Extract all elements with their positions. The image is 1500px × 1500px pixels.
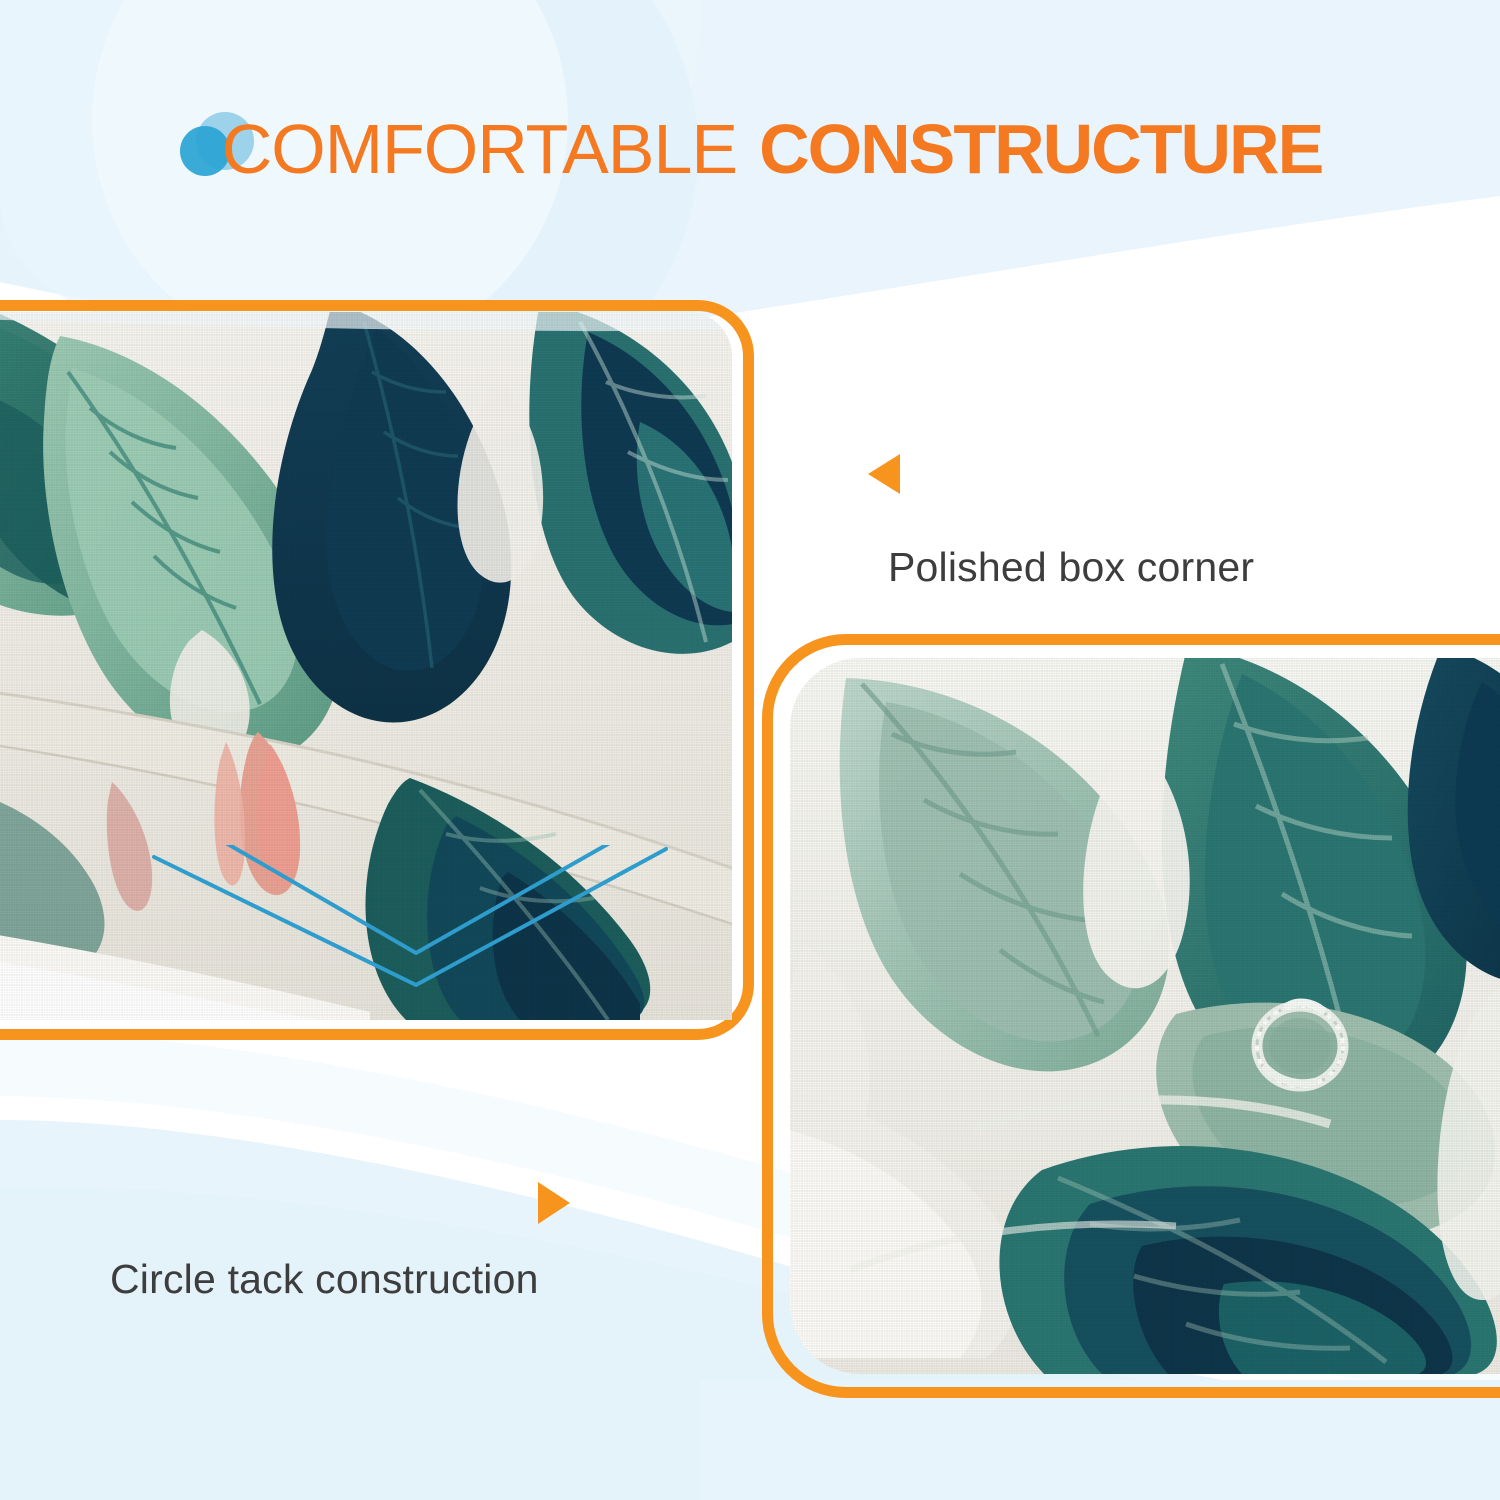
page-title: COMFORTABLECONSTRUCTURE [0, 96, 1500, 202]
double-chevron-down-icon [150, 845, 670, 1025]
triangle-left-icon [866, 452, 902, 496]
triangle-right-icon [534, 1180, 572, 1226]
circle-tack-photo [790, 658, 1500, 1374]
callout-label: Circle tack construction [110, 1256, 539, 1303]
title-secondary: CONSTRUCTURE [759, 110, 1322, 188]
callout-label: Polished box corner [888, 544, 1254, 591]
callout-polished-box-corner: Polished box corner [866, 452, 1254, 591]
callout-circle-tack-construction: Circle tack construction [110, 1180, 539, 1303]
infographic-canvas: COMFORTABLECONSTRUCTURE [0, 0, 1500, 1500]
right-photo-panel[interactable] [790, 658, 1500, 1374]
title-primary: COMFORTABLE [222, 110, 737, 188]
